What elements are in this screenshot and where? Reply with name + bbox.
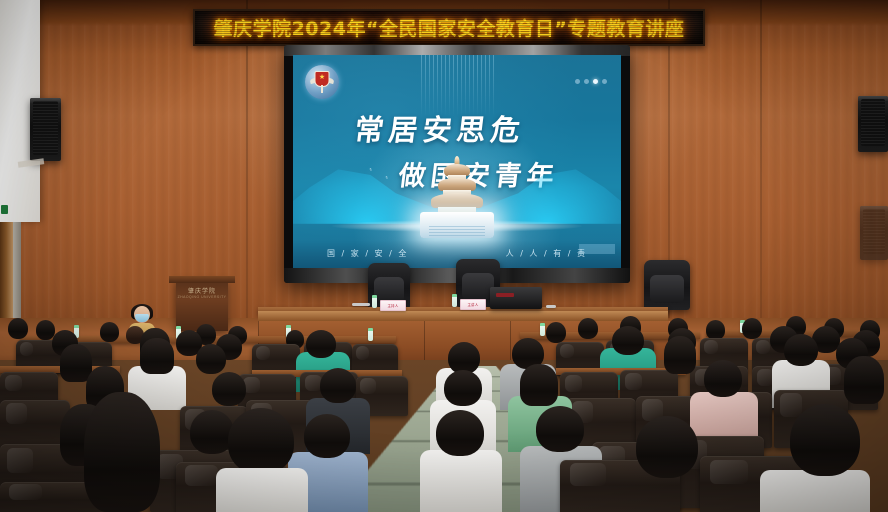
slogan-right: 人 / 人 / 有 / 责 — [506, 248, 587, 259]
namecard: 主持人 — [380, 300, 406, 311]
water-bottle — [452, 294, 457, 307]
lectern-sublabel: ZHAOQING UNIVERSITY — [176, 295, 228, 299]
stage-table-top — [258, 311, 668, 321]
carousel-dot-2[interactable] — [584, 79, 589, 84]
carousel-dot-3[interactable] — [593, 79, 598, 84]
emblem-star: ★ — [319, 74, 325, 81]
carousel-dot-1[interactable] — [575, 79, 580, 84]
water-bottle — [372, 295, 377, 308]
table-microphone-secondary — [546, 305, 556, 308]
bird-icon: 〝 — [529, 175, 536, 182]
lectern-label: 肇庆学院 — [176, 286, 228, 295]
bird-icon: 〝 — [399, 167, 406, 174]
bird-icon: 〝 — [545, 166, 552, 173]
lectern-top — [169, 276, 235, 283]
attendee-head — [790, 404, 860, 476]
bird-icon: 〝 — [365, 169, 372, 176]
attendee-head — [84, 392, 160, 512]
exit-sign-icon — [1, 205, 8, 214]
presentation-display: ★ 常居安思危 做国安青年 〝 〝 〝 〝 — [284, 45, 630, 283]
projector-unit — [490, 287, 542, 309]
led-banner: 肇庆学院2024年“全民国家安全教育日”专题教育讲座 — [193, 9, 705, 46]
right-wall-speaker — [858, 96, 888, 152]
screen-content: ★ 常居安思危 做国安青年 〝 〝 〝 〝 — [293, 55, 621, 268]
left-wall-speaker — [30, 98, 61, 161]
banner-text: 肇庆学院2024年“全民国家安全教育日”专题教育讲座 — [214, 14, 685, 41]
carousel-dot-4[interactable] — [602, 79, 607, 84]
light-streaks-decoration — [418, 55, 496, 117]
attendee-head — [306, 330, 336, 358]
water-bottle — [540, 323, 545, 336]
carousel-dots[interactable] — [575, 79, 607, 84]
national-security-emblem-icon: ★ — [305, 65, 339, 99]
water-bottle — [368, 328, 373, 341]
right-wall-speaker-lower — [860, 206, 888, 260]
table-microphone — [352, 303, 370, 306]
attendee-head — [636, 416, 698, 478]
namecard: 主讲人 — [460, 299, 486, 310]
bird-icon: 〝 — [511, 166, 518, 173]
auditorium-photo: 肇庆学院2024年“全民国家安全教育日”专题教育讲座 ★ — [0, 0, 888, 512]
bird-icon: 〝 — [381, 177, 388, 184]
temple-of-heaven-illustration — [420, 152, 494, 238]
slogan-left: 国 / 家 / 安 / 全 — [327, 248, 408, 259]
stage-chair-right — [644, 260, 690, 310]
attendee-head — [228, 408, 294, 474]
